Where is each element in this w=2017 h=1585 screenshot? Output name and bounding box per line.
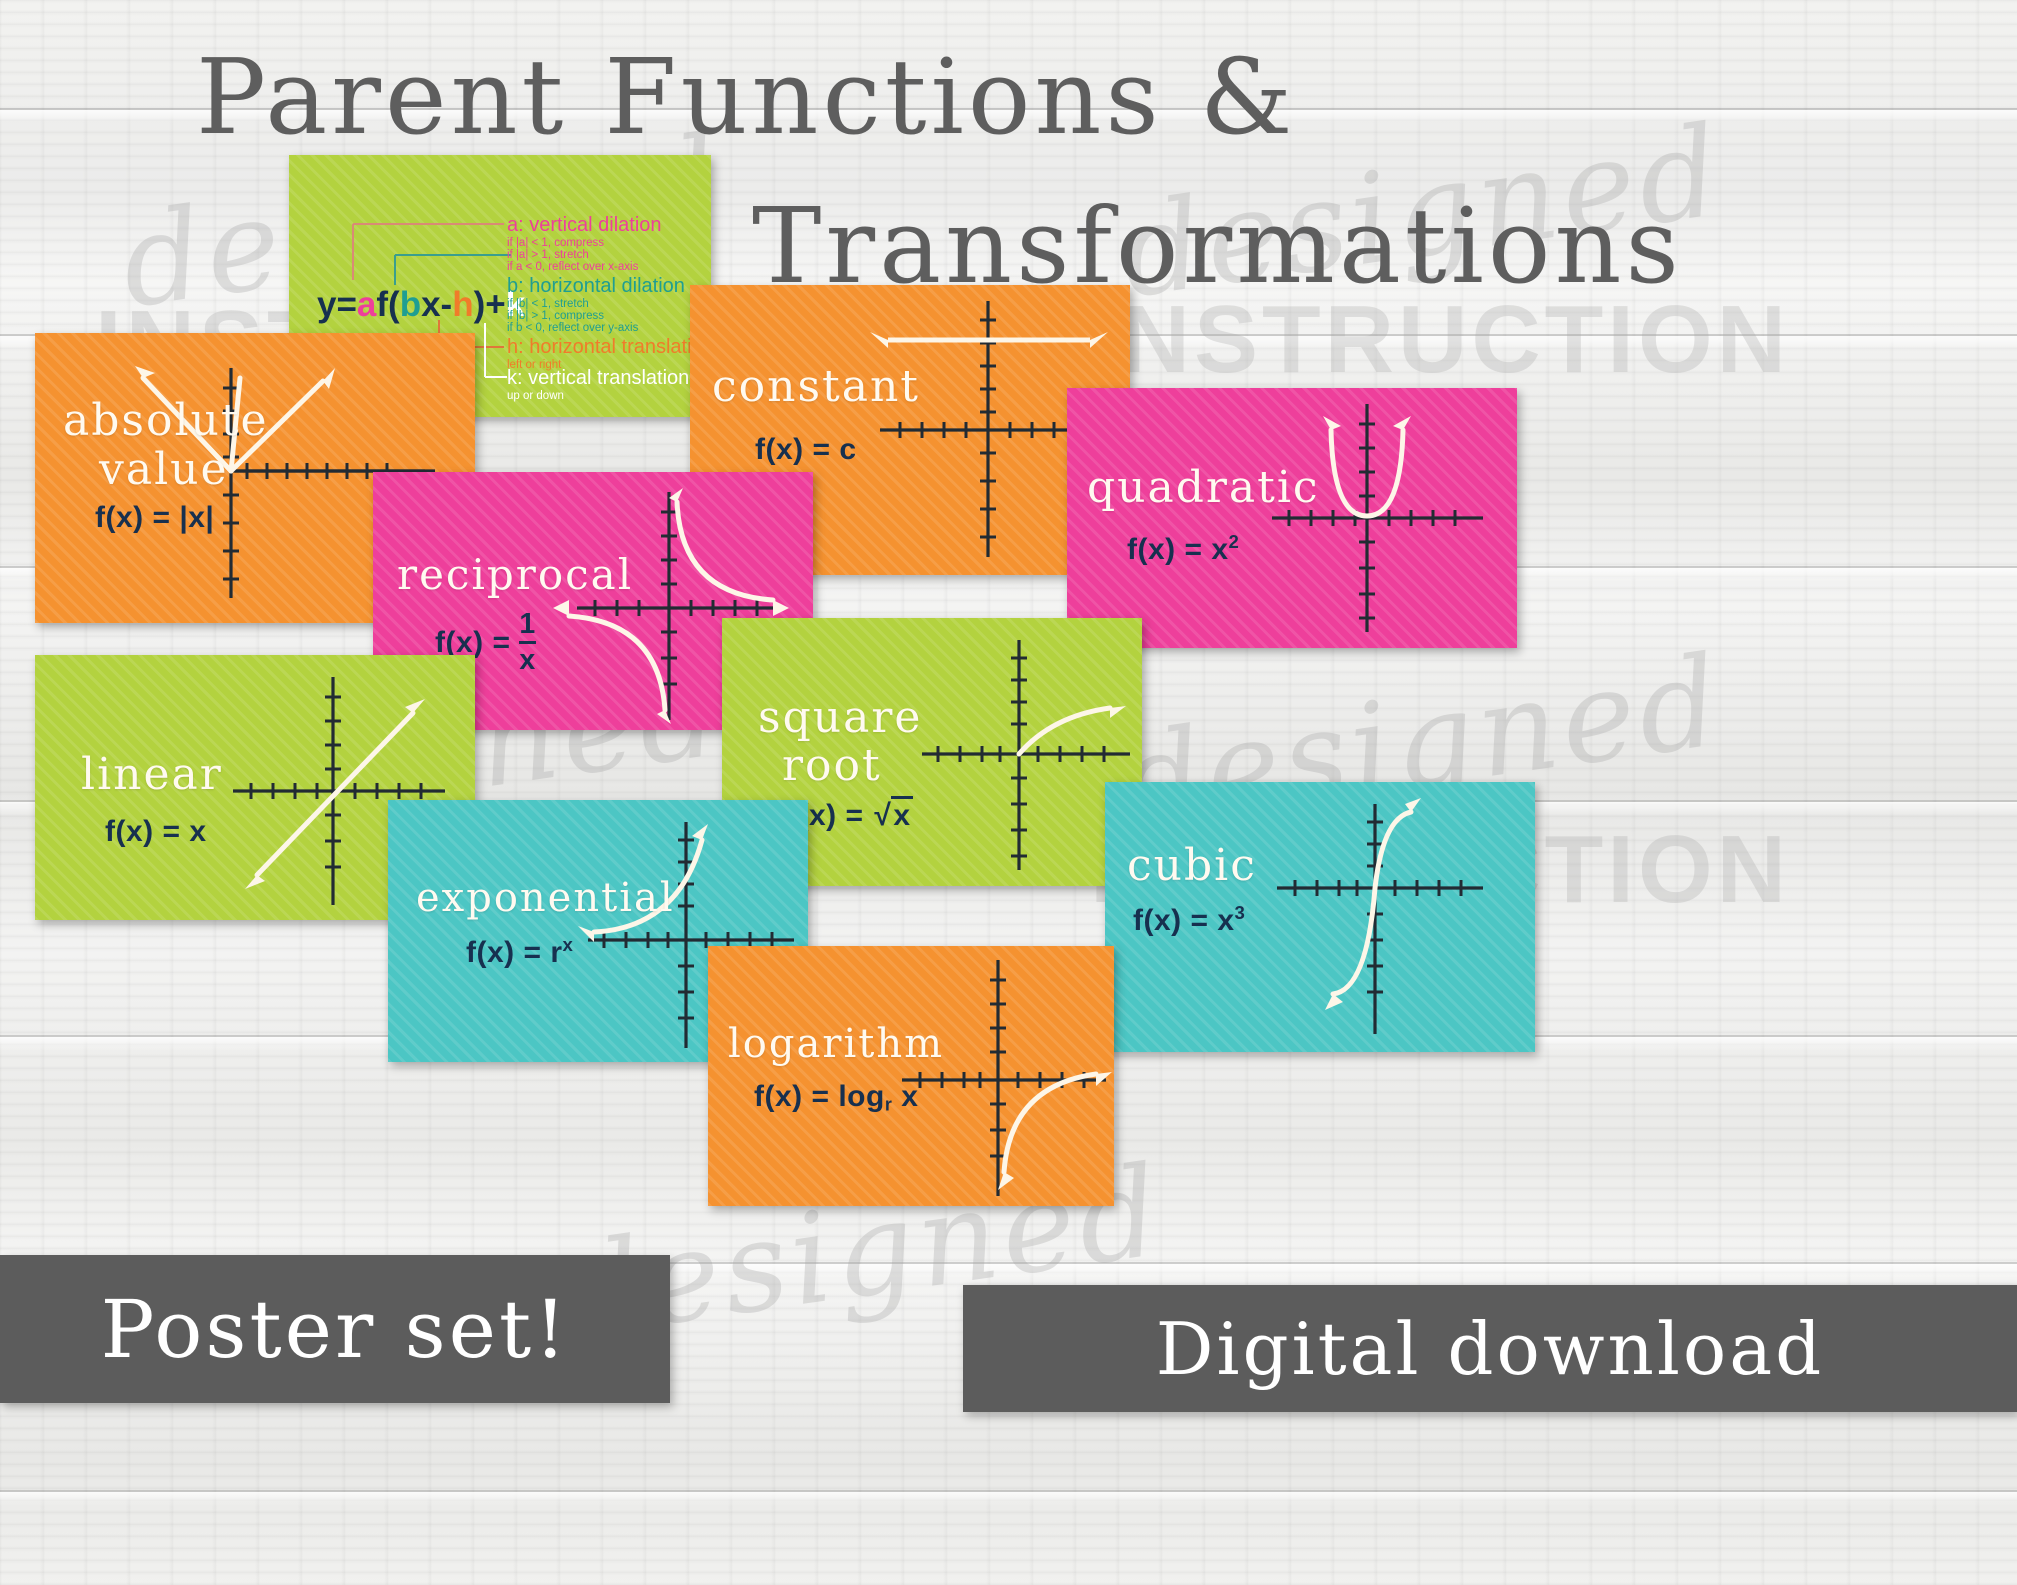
card-formula: f(x) = x [105, 815, 207, 849]
legend-heading: k: vertical translation [507, 367, 689, 390]
card-label-line1: logarithm [728, 1024, 944, 1064]
legend-subline: if b < 0, reflect over y-axis [507, 322, 685, 334]
eq-part-x: x- [421, 285, 452, 324]
banner-poster-set[interactable]: Poster set! [0, 1255, 670, 1403]
card-formula: f(x) = |x| [95, 501, 214, 535]
legend-b-horizontal-dilation: b: horizontal dilation if |b| < 1, stret… [507, 275, 685, 334]
card-label-line1: constant [712, 365, 920, 409]
card-label-line1: square [758, 696, 922, 740]
legend-subline: if |b| > 1, compress [507, 310, 685, 322]
banner-poster-set-label: Poster set! [101, 1283, 570, 1376]
eq-part-f: f( [376, 285, 399, 324]
card-label-line1: cubic [1127, 844, 1257, 888]
legend-subline: if |a| > 1, stretch [507, 249, 662, 261]
logarithm-graph-icon [708, 946, 1114, 1206]
legend-h-horizontal-translation: h: horizontal translation left or right [507, 336, 711, 371]
card-formula: f(x) = c [755, 433, 857, 467]
card-logarithm[interactable]: logarithm f(x) = logr x [708, 946, 1114, 1206]
eq-part-b: b [400, 285, 421, 324]
legend-k-vertical-translation: k: vertical translation up or down [507, 367, 689, 402]
banner-digital-download-label: Digital download [1156, 1307, 1824, 1391]
log-base: r [885, 1095, 893, 1115]
card-label-line1: absolute [63, 399, 269, 443]
plank-highlight [0, 1492, 2017, 1506]
card-label-line1: exponential [416, 878, 675, 918]
fraction-one-over-x: 1 x [519, 610, 535, 674]
card-label-line2: value [99, 448, 229, 492]
card-label-line2: root [782, 744, 882, 788]
card-label-line1: quadratic [1087, 466, 1320, 510]
legend-subline: if a < 0, reflect over x-axis [507, 261, 662, 273]
page-title-line1: Parent Functions & [196, 36, 1296, 158]
radical-icon: √x [872, 796, 912, 833]
legend-a-vertical-dilation: a: vertical dilation if |a| < 1, compres… [507, 214, 662, 273]
legend-heading: a: vertical dilation [507, 214, 662, 237]
eq-part-h: h [452, 285, 473, 324]
card-label-line1: reciprocal [397, 554, 633, 596]
card-quadratic[interactable]: quadratic f(x) = x2 [1067, 388, 1517, 648]
transformation-equation: y=af(bx-h)+k [317, 285, 525, 325]
legend-heading: b: horizontal dilation [507, 275, 685, 298]
quadratic-graph-icon [1067, 388, 1517, 648]
legend-subline: up or down [507, 390, 689, 402]
legend-subline: if |a| < 1, compress [507, 237, 662, 249]
card-formula: f(x) = logr x [754, 1080, 918, 1116]
card-formula: f(x) = x2 [1127, 531, 1239, 567]
eq-part-y: y= [317, 285, 357, 324]
card-formula: f(x) = rx [466, 934, 573, 970]
eq-part-close: )+ [474, 285, 506, 324]
fraction-denominator: x [519, 646, 535, 675]
card-formula: f(x) = x3 [1133, 902, 1245, 938]
legend-subline: if |b| < 1, stretch [507, 298, 685, 310]
fraction-numerator: 1 [519, 610, 535, 639]
eq-part-a: a [357, 285, 376, 324]
radical-overline: x [891, 796, 912, 833]
legend-heading: h: horizontal translation [507, 336, 711, 359]
card-cubic[interactable]: cubic f(x) = x3 [1105, 782, 1535, 1052]
banner-digital-download[interactable]: Digital download [963, 1285, 2017, 1412]
card-label-line1: linear [81, 753, 223, 797]
